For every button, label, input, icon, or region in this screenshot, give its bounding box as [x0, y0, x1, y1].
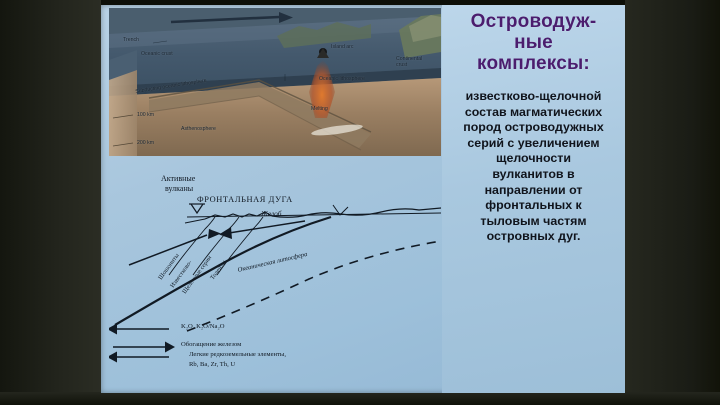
- block-label-depth-200: 200 km: [137, 140, 154, 146]
- legend-text-light-ree: Легкие редкоземельные элементы,: [189, 351, 286, 358]
- presentation-slide: Trench Oceanic crust Subducting oceanic …: [101, 5, 625, 393]
- slide-body-line-3: пород островодужных: [446, 120, 621, 136]
- slide-body-line-8: фронтальных к: [446, 198, 621, 214]
- label-frontal-arc: ФРОНТАЛЬНАЯ ДУГА: [197, 195, 293, 204]
- slide-body-line-2: состав магматических: [446, 105, 621, 121]
- projected-slide-photo: Trench Oceanic crust Subducting oceanic …: [0, 0, 720, 405]
- subduction-3d-block-diagram: Trench Oceanic crust Subducting oceanic …: [109, 8, 441, 156]
- block-label-continental-crust: Continental crust: [396, 56, 426, 68]
- block-label-asthenosphere: Asthenosphere: [181, 126, 216, 132]
- label-active-volcanoes-line2: вулканы: [165, 184, 193, 194]
- slide-body-line-1: известково-щелочной: [446, 89, 621, 105]
- slide-body-line-5: щелочности: [446, 151, 621, 167]
- legend-text-trace-elements: Rb, Ba, Zr, Th, U: [189, 361, 235, 368]
- block-label-oceanic-crust: Oceanic crust: [141, 51, 173, 57]
- slide-title-line-2: ные: [442, 32, 625, 53]
- room-dark-bottom-edge: [0, 392, 720, 405]
- slide-title-line-3: комплексы:: [442, 53, 625, 74]
- frontal-arc-cross-section: Активные вулканы ФРОНТАЛЬНАЯ ДУГА Желоб …: [109, 157, 441, 393]
- slide-title-line-1: Островодуж-: [442, 11, 625, 32]
- slide-body-text: известково-щелочной состав магматических…: [446, 89, 621, 245]
- slide-body-line-7: направлении от: [446, 183, 621, 199]
- block-label-island-arc: Island arc: [331, 44, 354, 50]
- slide-text-panel: Островодуж- ные комплексы: известково-ще…: [442, 5, 625, 393]
- label-trench-ru: Желоб: [261, 209, 282, 218]
- block-label-melting: Melting: [311, 106, 328, 112]
- room-dark-right-wall: [625, 0, 720, 405]
- slide-body-line-10: островных дуг.: [446, 229, 621, 245]
- slide-title: Островодуж- ные комплексы:: [442, 11, 625, 74]
- legend-text-k2o: K₂O, K₂O/Na₂O: [181, 323, 225, 330]
- slide-body-line-4: серий с увеличением: [446, 136, 621, 152]
- block-label-trench: Trench: [123, 37, 139, 43]
- block-label-oceanic-lithosphere: Oceanic lithosphere: [319, 76, 365, 82]
- block-label-depth-100: 100 km: [137, 112, 154, 118]
- slide-body-line-9: тыловым частям: [446, 214, 621, 230]
- legend-text-iron-enrichment: Обогащение железом: [181, 341, 241, 348]
- room-dark-left-wall: [0, 0, 101, 405]
- label-active-volcanoes-line1: Активные: [161, 174, 195, 184]
- slide-body-line-6: вулканитов в: [446, 167, 621, 183]
